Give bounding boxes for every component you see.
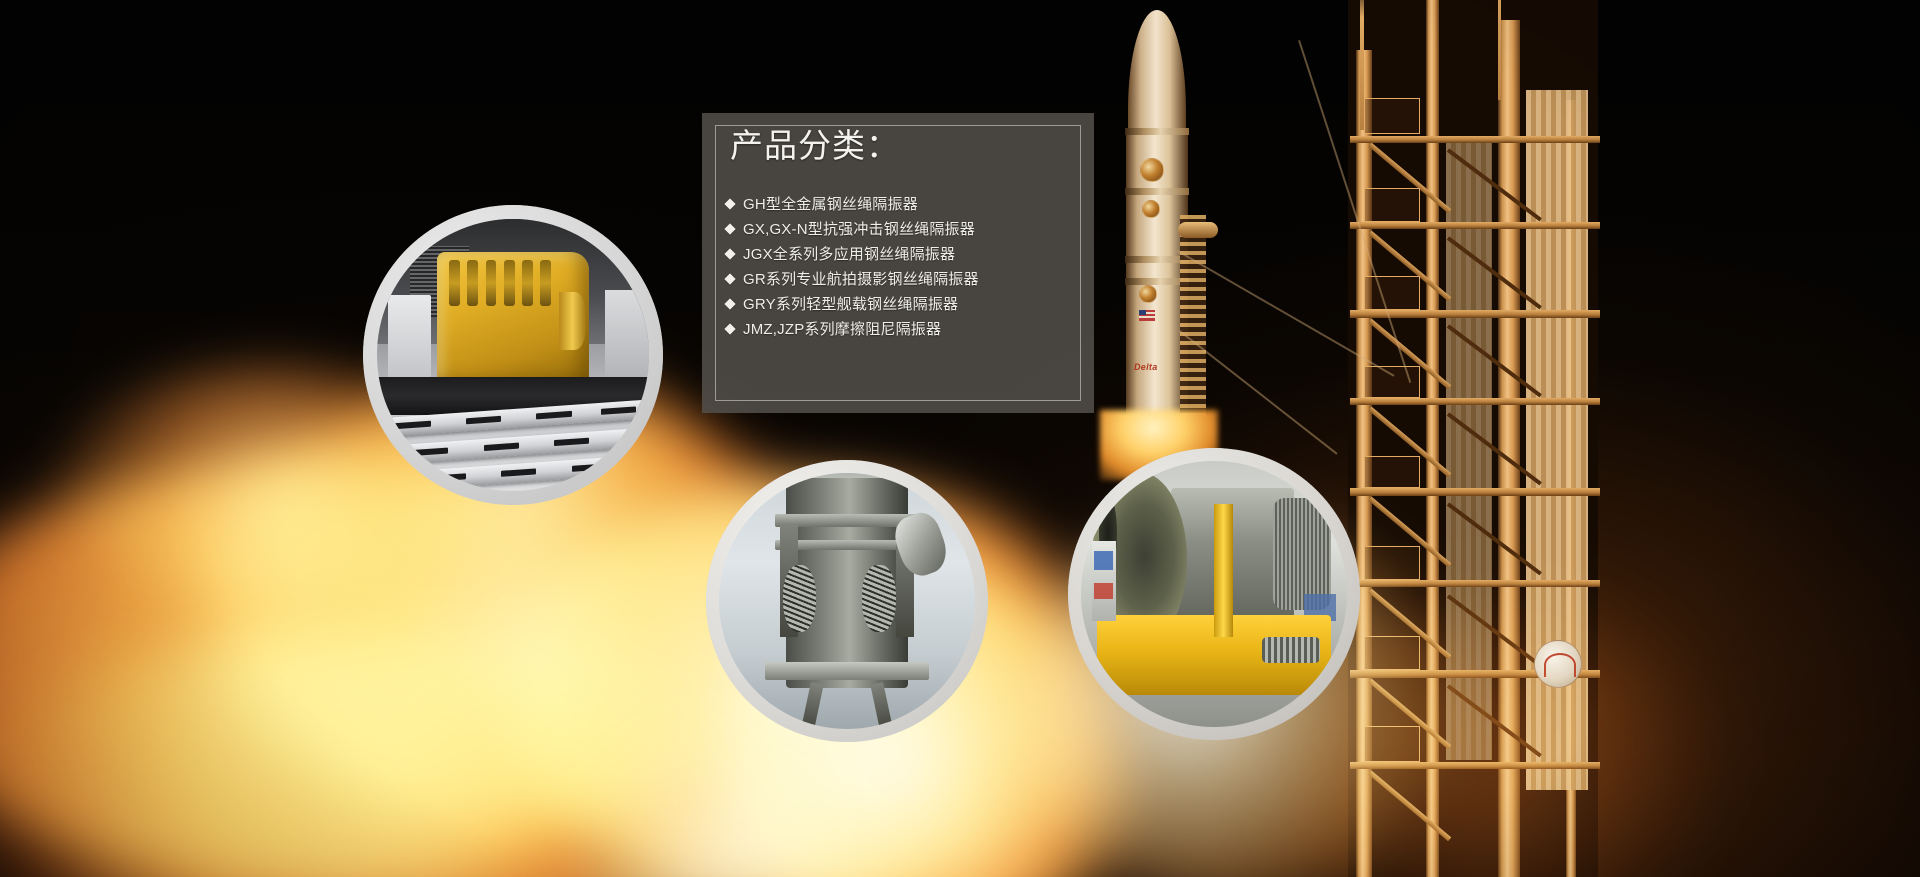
rocket-nose-cone (1128, 10, 1186, 138)
photo-inner-turbine (1081, 461, 1347, 727)
panel-title: 产品分类： (730, 129, 900, 162)
product-category-list: GH型全金属钢丝绳隔振器 GX,GX-N型抗强冲击钢丝绳隔振器 JGX全系列多应… (726, 191, 1084, 341)
diamond-bullet-icon (724, 198, 735, 209)
photo-inner-isolator (719, 473, 975, 729)
lightning-mast-icon (1360, 0, 1364, 130)
list-item-label: GH型全金属钢丝绳隔振器 (743, 193, 918, 214)
delta-rocket: Delta (1122, 10, 1194, 450)
product-photo-turbine-engine[interactable] (1068, 448, 1360, 740)
mission-patch-icon (1140, 158, 1164, 182)
us-flag-icon (1139, 310, 1155, 321)
rocket-body-text: Delta (1134, 362, 1158, 372)
photo-inner-generator (377, 219, 649, 491)
product-category-panel: 产品分类： GH型全金属钢丝绳隔振器 GX,GX-N型抗强冲击钢丝绳隔振器 JG… (702, 113, 1094, 413)
diamond-bullet-icon (724, 298, 735, 309)
wire-rope-isolator-icon (1262, 637, 1321, 664)
diamond-bullet-icon (724, 323, 735, 334)
list-item-label: GRY系列轻型舰载钢丝绳隔振器 (743, 293, 958, 314)
diamond-bullet-icon (724, 273, 735, 284)
product-photo-isolator-mount[interactable] (706, 460, 988, 742)
umbilical-arm (1178, 222, 1218, 238)
product-photo-generator[interactable] (363, 205, 663, 505)
diamond-bullet-icon (724, 248, 735, 259)
lightning-mast-icon-2 (1498, 0, 1501, 100)
wire-rope-coil-icon (783, 565, 816, 632)
banner-stage: Delta (0, 0, 1920, 877)
list-item-label: JMZ,JZP系列摩擦阻尼隔振器 (743, 318, 941, 339)
mission-patch-icon-2 (1139, 285, 1157, 303)
umbilical-tower (1180, 215, 1206, 430)
list-item[interactable]: GR系列专业航拍摄影钢丝绳隔振器 (726, 266, 1084, 291)
diamond-bullet-icon (724, 223, 735, 234)
list-item-label: GX,GX-N型抗强冲击钢丝绳隔振器 (743, 218, 975, 239)
wire-rope-coil-icon-2 (862, 565, 895, 632)
list-item[interactable]: GRY系列轻型舰载钢丝绳隔振器 (726, 291, 1084, 316)
agency-logo-icon (1142, 200, 1160, 218)
list-item[interactable]: JGX全系列多应用钢丝绳隔振器 (726, 241, 1084, 266)
list-item[interactable]: JMZ,JZP系列摩擦阻尼隔振器 (726, 316, 1084, 341)
list-item-label: GR系列专业航拍摄影钢丝绳隔振器 (743, 268, 979, 289)
list-item[interactable]: GH型全金属钢丝绳隔振器 (726, 191, 1084, 216)
list-item[interactable]: GX,GX-N型抗强冲击钢丝绳隔振器 (726, 216, 1084, 241)
list-item-label: JGX全系列多应用钢丝绳隔振器 (743, 243, 955, 264)
